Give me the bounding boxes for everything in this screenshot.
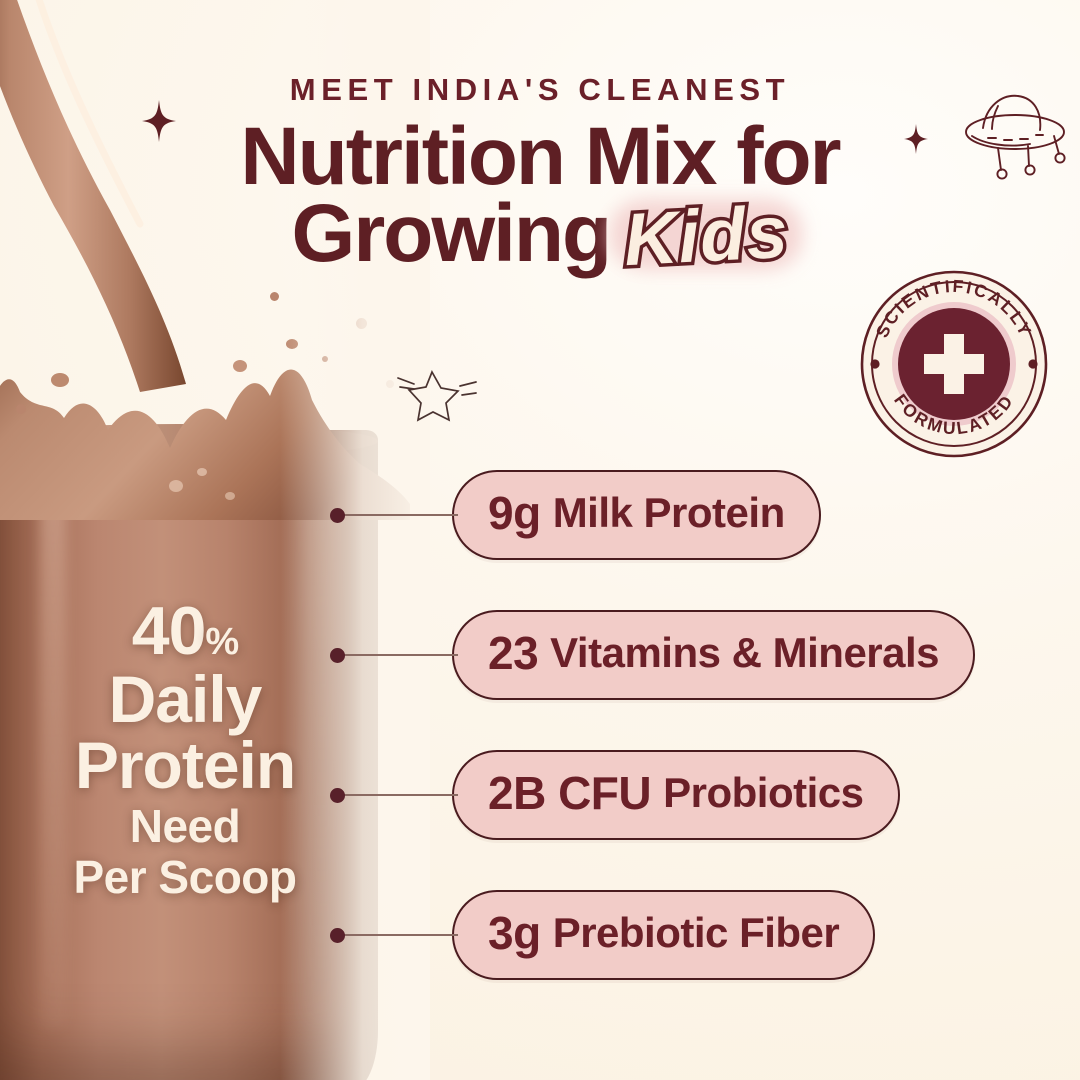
- connector-line: [340, 514, 458, 516]
- feature-label: Vitamins & Minerals: [550, 629, 939, 677]
- connector-line: [340, 794, 458, 796]
- feature-label: Prebiotic Fiber: [553, 909, 840, 957]
- headline-line-2-prefix: Growing: [292, 195, 611, 272]
- poster-canvas: 40% Daily Protein Need Per Scoop MEET IN…: [0, 0, 1080, 1080]
- kids-highlight: Kids: [624, 195, 788, 272]
- connector-line: [340, 654, 458, 656]
- feature-pill-vitamins-minerals[interactable]: 23 Vitamins & Minerals: [452, 610, 975, 700]
- kids-word: Kids: [622, 197, 790, 275]
- feature-pill-milk-protein[interactable]: 9g Milk Protein: [452, 470, 821, 560]
- kicker-text: MEET INDIA'S CLEANEST: [0, 72, 1080, 108]
- connector-dot: [330, 648, 345, 663]
- connector-line: [340, 934, 458, 936]
- headline-line-1: Nutrition Mix for: [0, 118, 1080, 195]
- feature-pill-prebiotic-fiber[interactable]: 3g Prebiotic Fiber: [452, 890, 875, 980]
- feature-value: 2B CFU: [488, 766, 651, 820]
- feature-value: 9g: [488, 486, 541, 540]
- headline: Nutrition Mix for Growing Kids: [0, 118, 1080, 272]
- headline-line-2: Growing Kids: [0, 195, 1080, 272]
- feature-label: Milk Protein: [553, 489, 785, 537]
- feature-value: 23: [488, 626, 538, 680]
- scientifically-formulated-badge: SCIENTIFICALLY FORMULATED: [858, 268, 1050, 460]
- feature-label: Probiotics: [663, 769, 863, 817]
- connector-dot: [330, 508, 345, 523]
- feature-pill-probiotics[interactable]: 2B CFU Probiotics: [452, 750, 900, 840]
- connector-dot: [330, 928, 345, 943]
- feature-value: 3g: [488, 906, 541, 960]
- connector-dot: [330, 788, 345, 803]
